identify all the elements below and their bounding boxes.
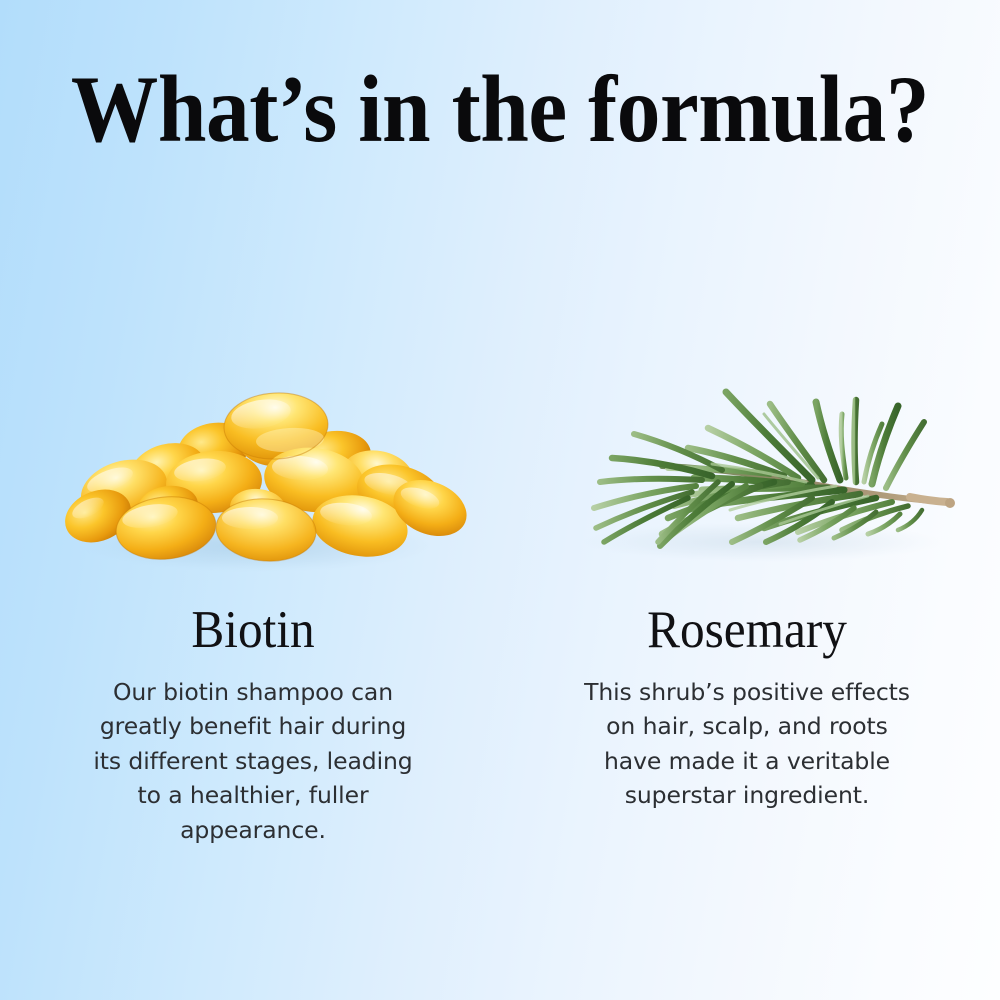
- desc-line: This shrub’s positive effects: [567, 675, 927, 710]
- desc-line: have made it a veritable: [567, 744, 927, 779]
- desc-line: superstar ingredient.: [567, 778, 927, 813]
- desc-line: Our biotin shampoo can: [73, 675, 433, 710]
- ingredient-card-biotin: Biotin Our biotin shampoo can greatly be…: [18, 330, 488, 870]
- desc-line: appearance.: [73, 813, 433, 848]
- ingredients-poster: What’s in the formula?: [0, 0, 1000, 1000]
- biotin-capsules-image: [18, 330, 488, 595]
- rosemary-sprig-image: [512, 330, 982, 595]
- ingredient-description-biotin: Our biotin shampoo can greatly benefit h…: [73, 675, 433, 848]
- desc-line: its different stages, leading: [73, 744, 433, 779]
- desc-line: to a healthier, fuller: [73, 778, 433, 813]
- desc-line: on hair, scalp, and roots: [567, 709, 927, 744]
- ingredient-card-rosemary: Rosemary This shrub’s positive effects o…: [512, 330, 982, 870]
- page-title: What’s in the formula?: [40, 62, 960, 157]
- ingredient-name-biotin: Biotin: [34, 603, 471, 659]
- ingredient-description-rosemary: This shrub’s positive effects on hair, s…: [567, 675, 927, 813]
- ingredient-name-rosemary: Rosemary: [528, 603, 965, 659]
- desc-line: greatly benefit hair during: [73, 709, 433, 744]
